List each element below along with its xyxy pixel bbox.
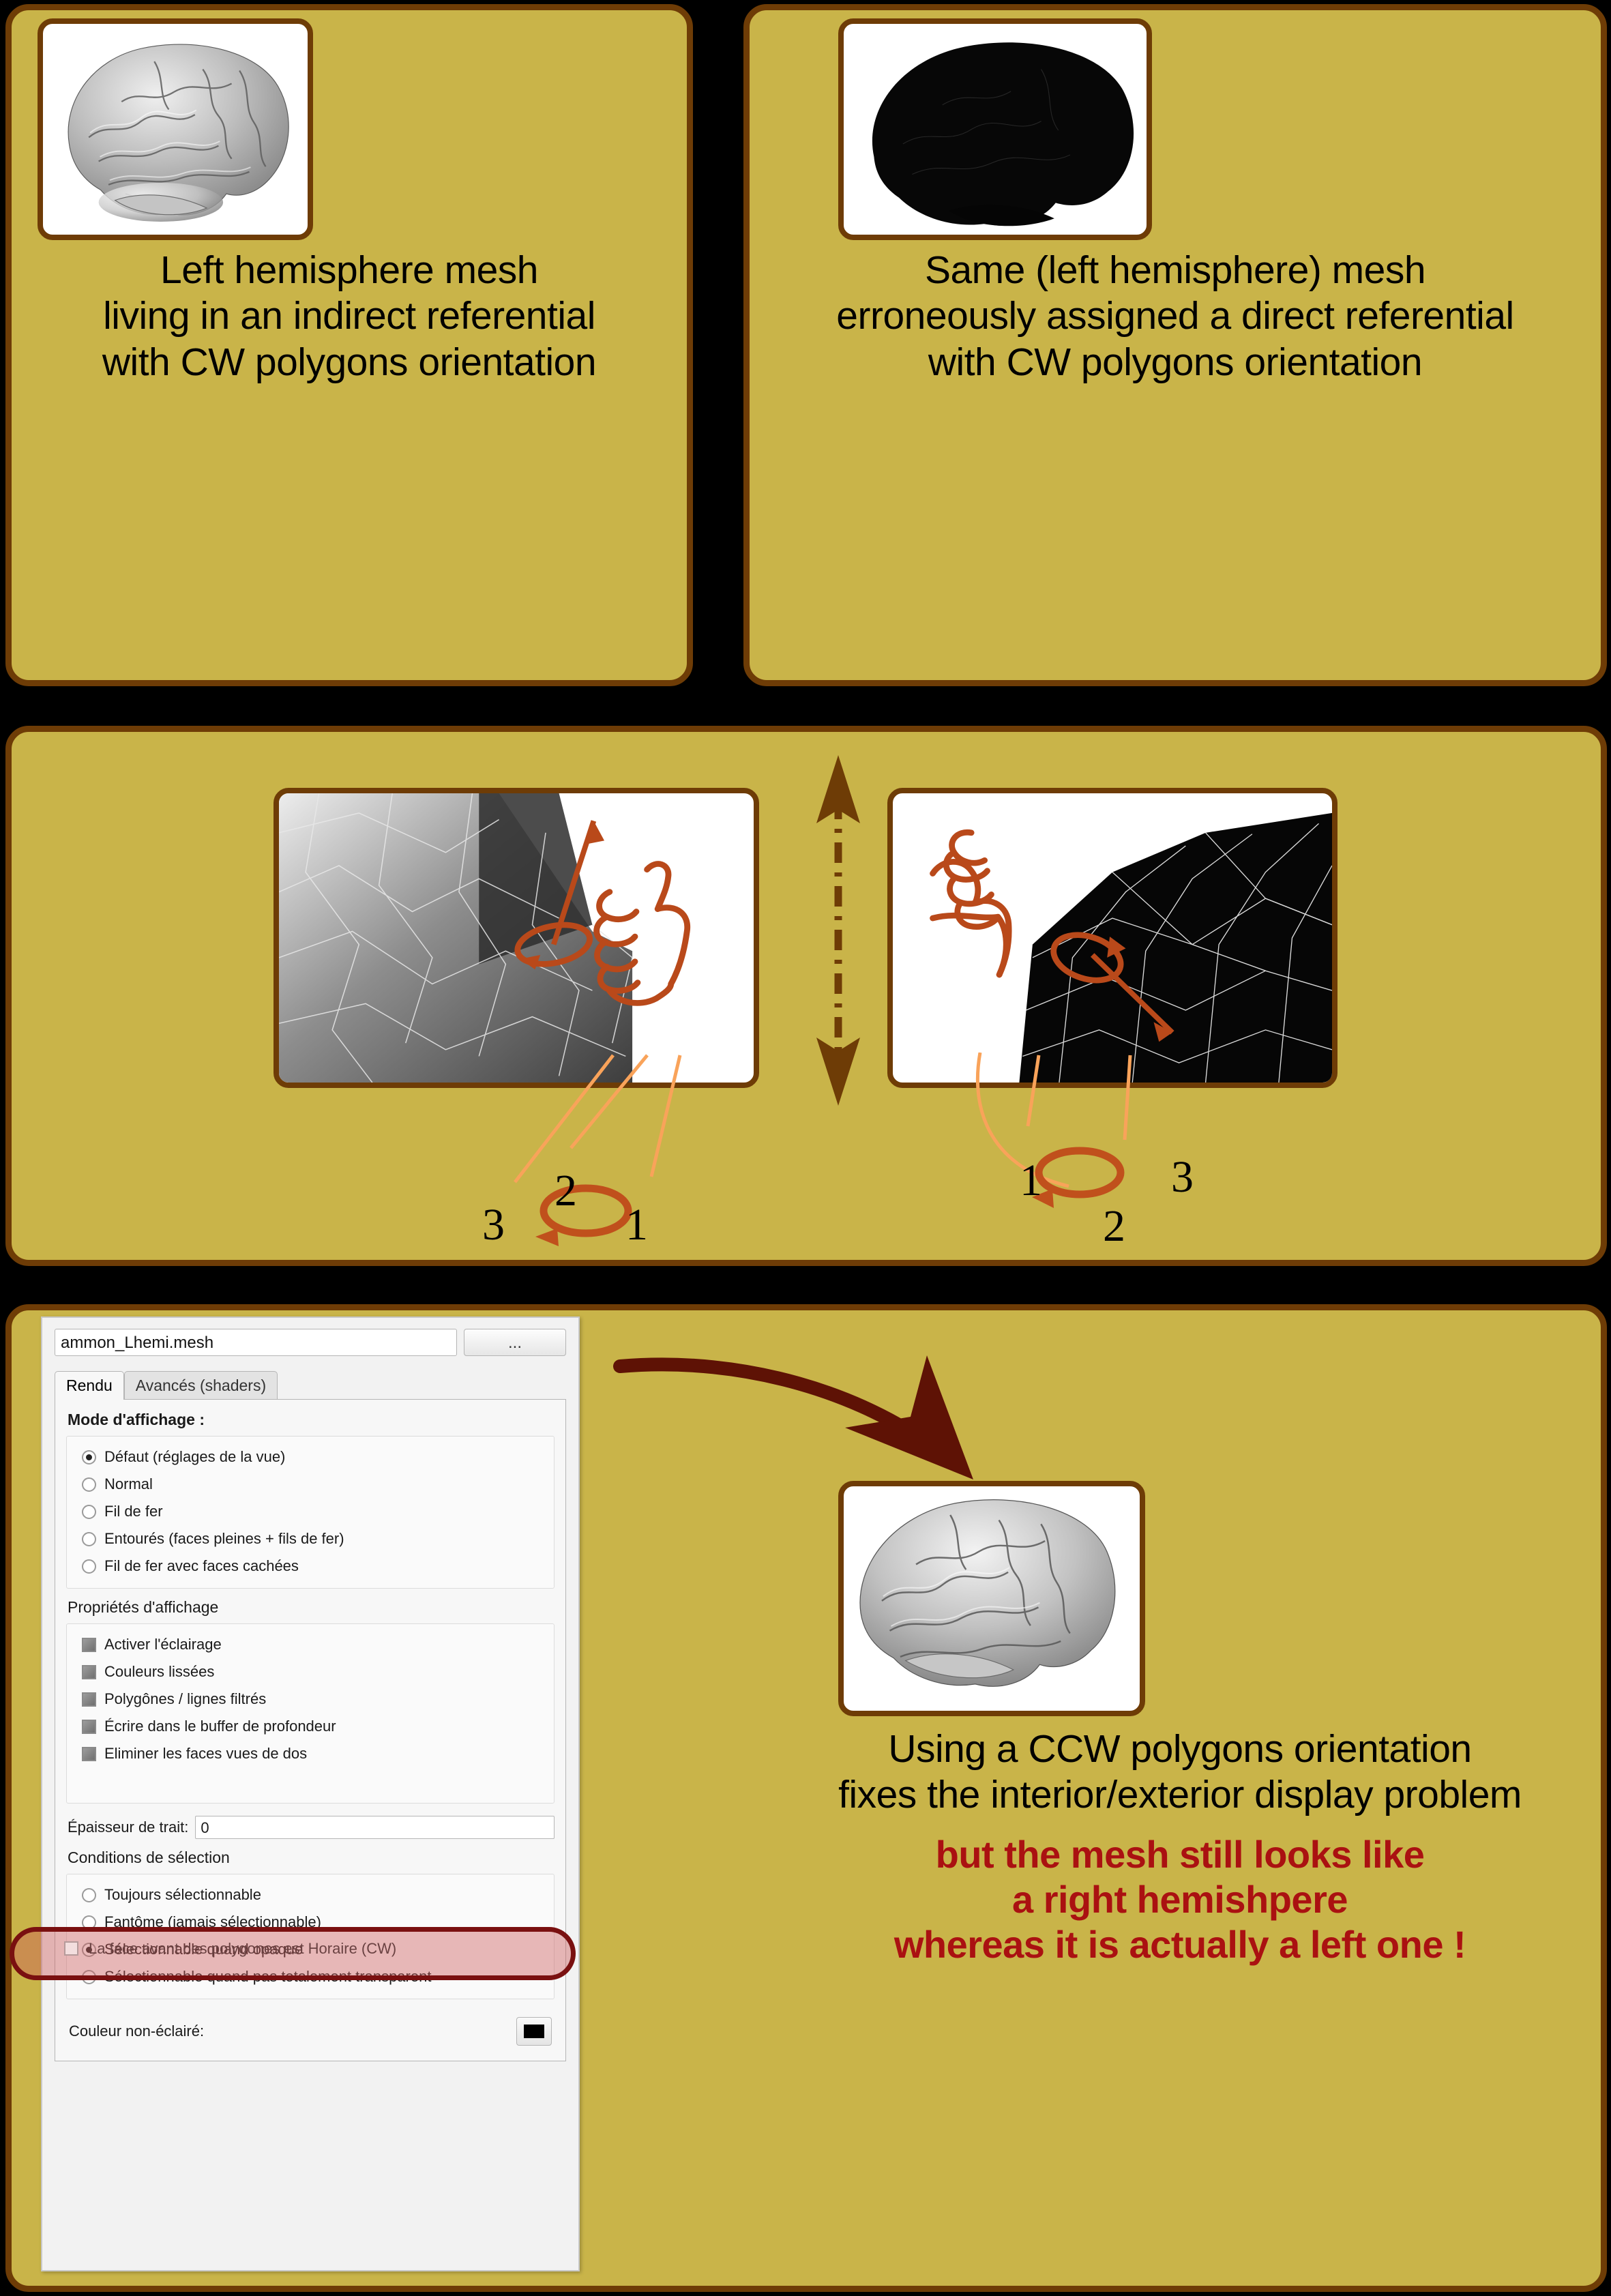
checkbox-label-face-avant-cw-highlighted: La face avant des polygones est Horaire … <box>89 1940 396 1958</box>
curved-arrow-icon <box>591 1331 1096 1488</box>
brain-mesh-black <box>844 24 1147 235</box>
checkbox-option-couleurs-lissees[interactable]: Couleurs lissées <box>72 1658 548 1686</box>
warning-line-1: but the mesh still looks like <box>760 1832 1599 1877</box>
right-number-1: 1 <box>1020 1158 1042 1203</box>
checkbox-option-buffer-profondeur[interactable]: Écrire dans le buffer de profondeur <box>72 1713 548 1740</box>
selection-conditions-title: Conditions de sélection <box>68 1849 555 1867</box>
file-row: ammon_Lhemi.mesh ... <box>42 1318 578 1362</box>
checkbox-label-buffer-profondeur: Écrire dans le buffer de profondeur <box>104 1718 336 1735</box>
tab-rendu[interactable]: Rendu <box>55 1371 124 1400</box>
checkbox-label-eliminer-faces-dos: Eliminer les faces vues de dos <box>104 1745 307 1763</box>
radio-icon-fil-de-fer[interactable] <box>82 1505 96 1519</box>
unlit-color-row: Couleur non-éclairé: <box>66 2009 555 2050</box>
left-number-1: 1 <box>625 1203 648 1248</box>
radio-option-entoures[interactable]: Entourés (faces pleines + fils de fer) <box>72 1525 548 1552</box>
checkbox-icon-face-avant-cw-highlighted[interactable] <box>64 1941 78 1956</box>
caption-bottom-line-1: Using a CCW polygons orientation <box>760 1726 1599 1772</box>
checkbox-option-eliminer-faces-dos[interactable]: Eliminer les faces vues de dos <box>72 1740 548 1767</box>
checkbox-icon-buffer-profondeur[interactable] <box>82 1720 96 1734</box>
checkbox-icon-eclairage[interactable] <box>82 1638 96 1652</box>
brain-mesh-grey <box>43 24 308 235</box>
radio-option-defaut[interactable]: Défaut (réglages de la vue) <box>72 1443 548 1471</box>
right-number-3: 3 <box>1171 1155 1194 1200</box>
tab-avances-shaders[interactable]: Avancés (shaders) <box>124 1371 278 1400</box>
checkbox-label-couleurs-lissees: Couleurs lissées <box>104 1663 214 1681</box>
caption-left-line-2: living in an indirect referential <box>12 293 687 339</box>
panel-left-hemisphere-correct: Left hemisphere mesh living in an indire… <box>5 4 693 686</box>
caption-left-line-1: Left hemisphere mesh <box>12 248 687 293</box>
radio-icon-normal[interactable] <box>82 1477 96 1492</box>
zoom-image-ccw-thumbsup <box>274 788 759 1088</box>
radio-icon-toujours-selectionnable[interactable] <box>82 1888 96 1902</box>
radio-label-normal: Normal <box>104 1475 153 1493</box>
radio-icon-defaut[interactable] <box>82 1450 96 1465</box>
radio-option-normal[interactable]: Normal <box>72 1471 548 1498</box>
checkbox-icon-couleurs-lissees[interactable] <box>82 1665 96 1679</box>
unlit-color-label: Couleur non-éclairé: <box>69 2022 204 2040</box>
checkbox-icon-eliminer-faces-dos[interactable] <box>82 1747 96 1761</box>
radio-label-entoures: Entourés (faces pleines + fils de fer) <box>104 1530 344 1548</box>
mesh-file-input[interactable]: ammon_Lhemi.mesh <box>55 1329 457 1356</box>
checkbox-label-polygones-filtres: Polygônes / lignes filtrés <box>104 1690 266 1708</box>
brain-image-right <box>838 18 1152 240</box>
display-properties-group: Activer l'éclairage Couleurs lissées Pol… <box>66 1623 555 1804</box>
checkbox-option-polygones-filtres[interactable]: Polygônes / lignes filtrés <box>72 1686 548 1713</box>
warning-line-2: a right hemishpere <box>760 1877 1599 1922</box>
unlit-color-button[interactable] <box>516 2017 552 2046</box>
wireframe-black <box>893 793 1332 1083</box>
checkbox-label-eclairage: Activer l'éclairage <box>104 1636 222 1653</box>
radio-option-fil-faces-cachees[interactable]: Fil de fer avec faces cachées <box>72 1552 548 1580</box>
display-properties-title: Propriétés d'affichage <box>68 1598 555 1617</box>
caption-right-line-3: with CW polygons orientation <box>750 340 1601 385</box>
brain-image-left <box>38 18 313 240</box>
left-number-2: 2 <box>555 1168 577 1213</box>
radio-label-fil-faces-cachees: Fil de fer avec faces cachées <box>104 1557 299 1575</box>
radio-label-defaut: Défaut (réglages de la vue) <box>104 1448 285 1466</box>
caption-right-line-1: Same (left hemisphere) mesh <box>750 248 1601 293</box>
radio-icon-entoures[interactable] <box>82 1532 96 1546</box>
caption-bottom: Using a CCW polygons orientation fixes t… <box>760 1726 1599 1819</box>
line-width-row: Épaisseur de trait: 0 <box>66 1813 555 1847</box>
tab-bar[interactable]: Rendu Avancés (shaders) <box>55 1371 578 1400</box>
caption-right-line-2: erroneously assigned a direct referentia… <box>750 293 1601 339</box>
mesh-render-settings-dialog[interactable]: ammon_Lhemi.mesh ... Rendu Avancés (shad… <box>41 1316 580 2271</box>
line-width-label: Épaisseur de trait: <box>68 1819 188 1836</box>
caption-left-line-3: with CW polygons orientation <box>12 340 687 385</box>
browse-button[interactable]: ... <box>464 1329 566 1356</box>
display-mode-title: Mode d'affichage : <box>68 1411 555 1429</box>
left-number-3: 3 <box>482 1203 505 1248</box>
color-swatch-icon <box>524 2025 544 2038</box>
radio-icon-fil-faces-cachees[interactable] <box>82 1559 96 1574</box>
panel-normal-orientation-comparison: 3 2 1 1 2 3 <box>5 726 1607 1266</box>
display-mode-group: Défaut (réglages de la vue) Normal Fil d… <box>66 1436 555 1589</box>
brain-image-bottom <box>838 1481 1145 1716</box>
radio-option-fil-de-fer[interactable]: Fil de fer <box>72 1498 548 1525</box>
panel-right-hemisphere-wrong: Same (left hemisphere) mesh erroneously … <box>743 4 1607 686</box>
wireframe-grey <box>279 793 754 1083</box>
caption-bottom-warning: but the mesh still looks like a right he… <box>760 1832 1599 1967</box>
radio-label-fil-de-fer: Fil de fer <box>104 1503 163 1520</box>
zoom-image-cw-thumbsdown <box>887 788 1337 1088</box>
caption-bottom-line-2: fixes the interior/exterior display prob… <box>760 1772 1599 1818</box>
caption-right: Same (left hemisphere) mesh erroneously … <box>750 248 1601 385</box>
line-width-input[interactable]: 0 <box>195 1816 555 1839</box>
right-number-2: 2 <box>1103 1204 1125 1249</box>
radio-option-toujours-selectionnable[interactable]: Toujours sélectionnable <box>72 1881 548 1909</box>
checkbox-option-eclairage[interactable]: Activer l'éclairage <box>72 1631 548 1658</box>
checkbox-icon-polygones-filtres[interactable] <box>82 1692 96 1707</box>
warning-line-3: whereas it is actually a left one ! <box>760 1922 1599 1967</box>
brain-mesh-fixed <box>844 1486 1140 1711</box>
caption-left: Left hemisphere mesh living in an indire… <box>12 248 687 385</box>
radio-label-toujours-selectionnable: Toujours sélectionnable <box>104 1886 261 1904</box>
